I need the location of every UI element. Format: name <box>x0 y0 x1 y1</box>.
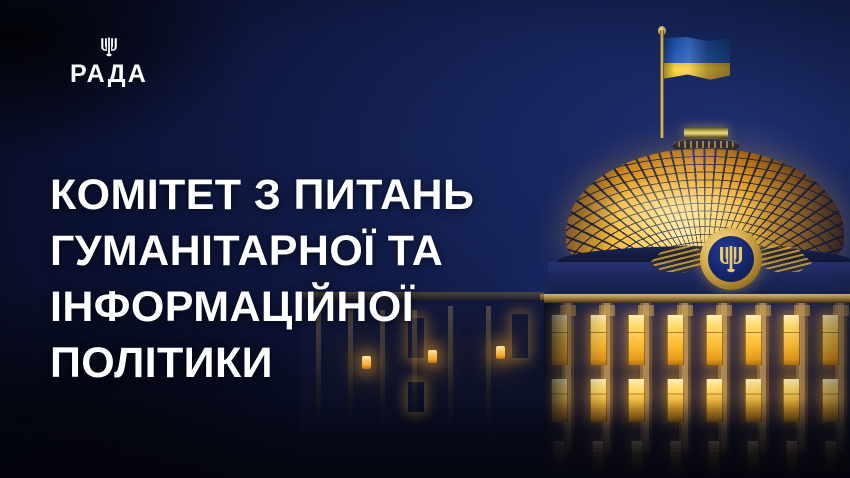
title-line-3: ІНФОРМАЦІЙНОЇ <box>50 279 610 335</box>
ukrainian-coat-of-arms-medallion <box>650 228 812 290</box>
trident-icon <box>718 244 744 274</box>
lit-window <box>745 315 762 365</box>
rada-logo-text: РАДА <box>49 62 169 87</box>
lit-window <box>628 315 645 365</box>
rada-logo: РАДА <box>49 36 169 87</box>
banner-image: РАДА КОМІТЕТ З ПИТАНЬ ГУМАНІТАРНОЇ ТА ІН… <box>0 0 850 478</box>
lit-window <box>822 315 839 365</box>
lit-window <box>783 315 800 365</box>
page-title: КОМІТЕТ З ПИТАНЬ ГУМАНІТАРНОЇ ТА ІНФОРМА… <box>50 167 610 391</box>
trident-icon <box>98 36 120 58</box>
emblem-blue-field <box>708 236 754 282</box>
emblem-wheat-spray-left <box>650 244 706 274</box>
emblem-wheat-spray-right <box>756 244 812 274</box>
title-line-2: ГУМАНІТАРНОЇ ТА <box>50 223 610 279</box>
emblem-gold-disc <box>700 228 762 290</box>
title-line-4: ПОЛІТИКИ <box>50 335 610 391</box>
lit-window <box>667 315 684 365</box>
title-line-1: КОМІТЕТ З ПИТАНЬ <box>50 167 610 223</box>
lit-window <box>706 315 723 365</box>
foreground-shadow <box>0 400 850 478</box>
